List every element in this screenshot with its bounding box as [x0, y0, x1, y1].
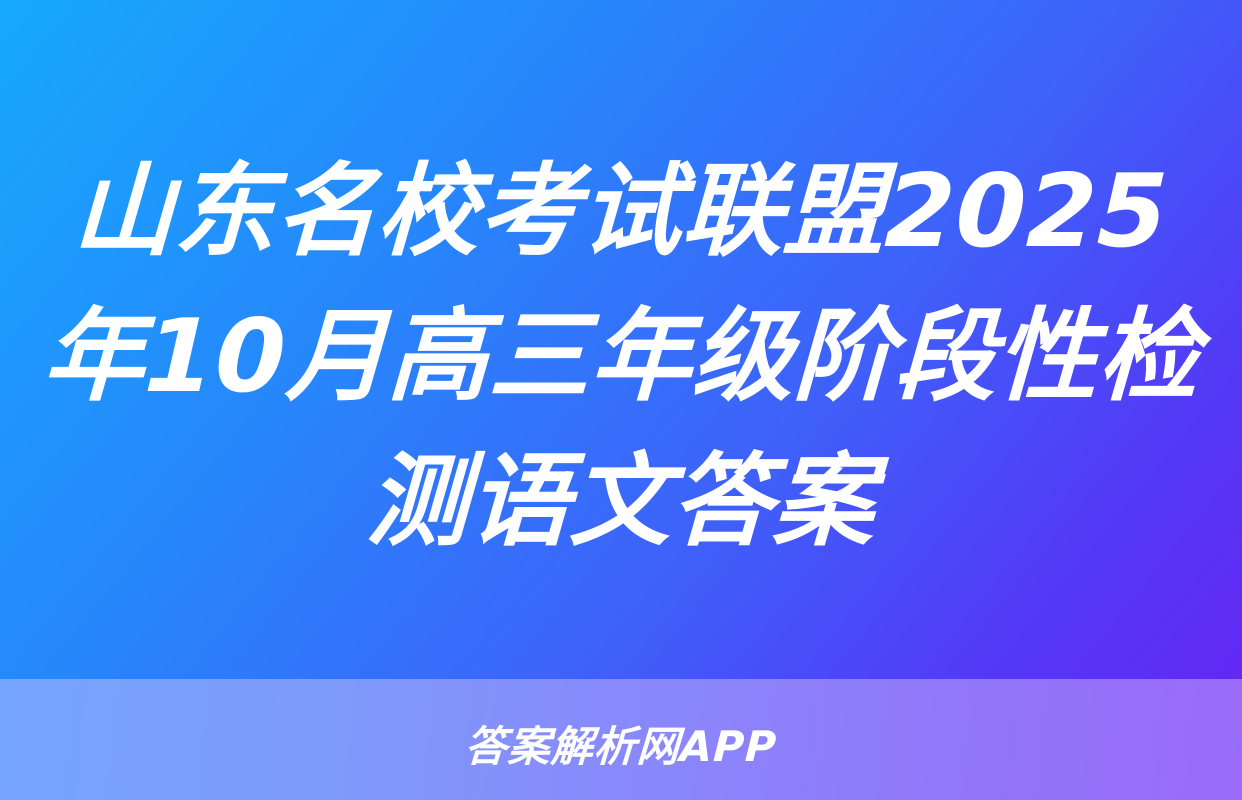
footer-watermark-band: 答案解析网APP [0, 679, 1242, 800]
title-card: 山东名校考试联盟2025 年10月高三年级阶段性检 测语文答案 答案解析网APP [0, 0, 1242, 800]
app-watermark-label: 答案解析网APP [463, 713, 778, 774]
title-block: 山东名校考试联盟2025 年10月高三年级阶段性检 测语文答案 [0, 0, 1242, 679]
title-line-2: 年10月高三年级阶段性检 [40, 284, 1202, 429]
title-line-3: 测语文答案 [365, 429, 878, 574]
title-line-1: 山东名校考试联盟2025 [71, 139, 1171, 284]
